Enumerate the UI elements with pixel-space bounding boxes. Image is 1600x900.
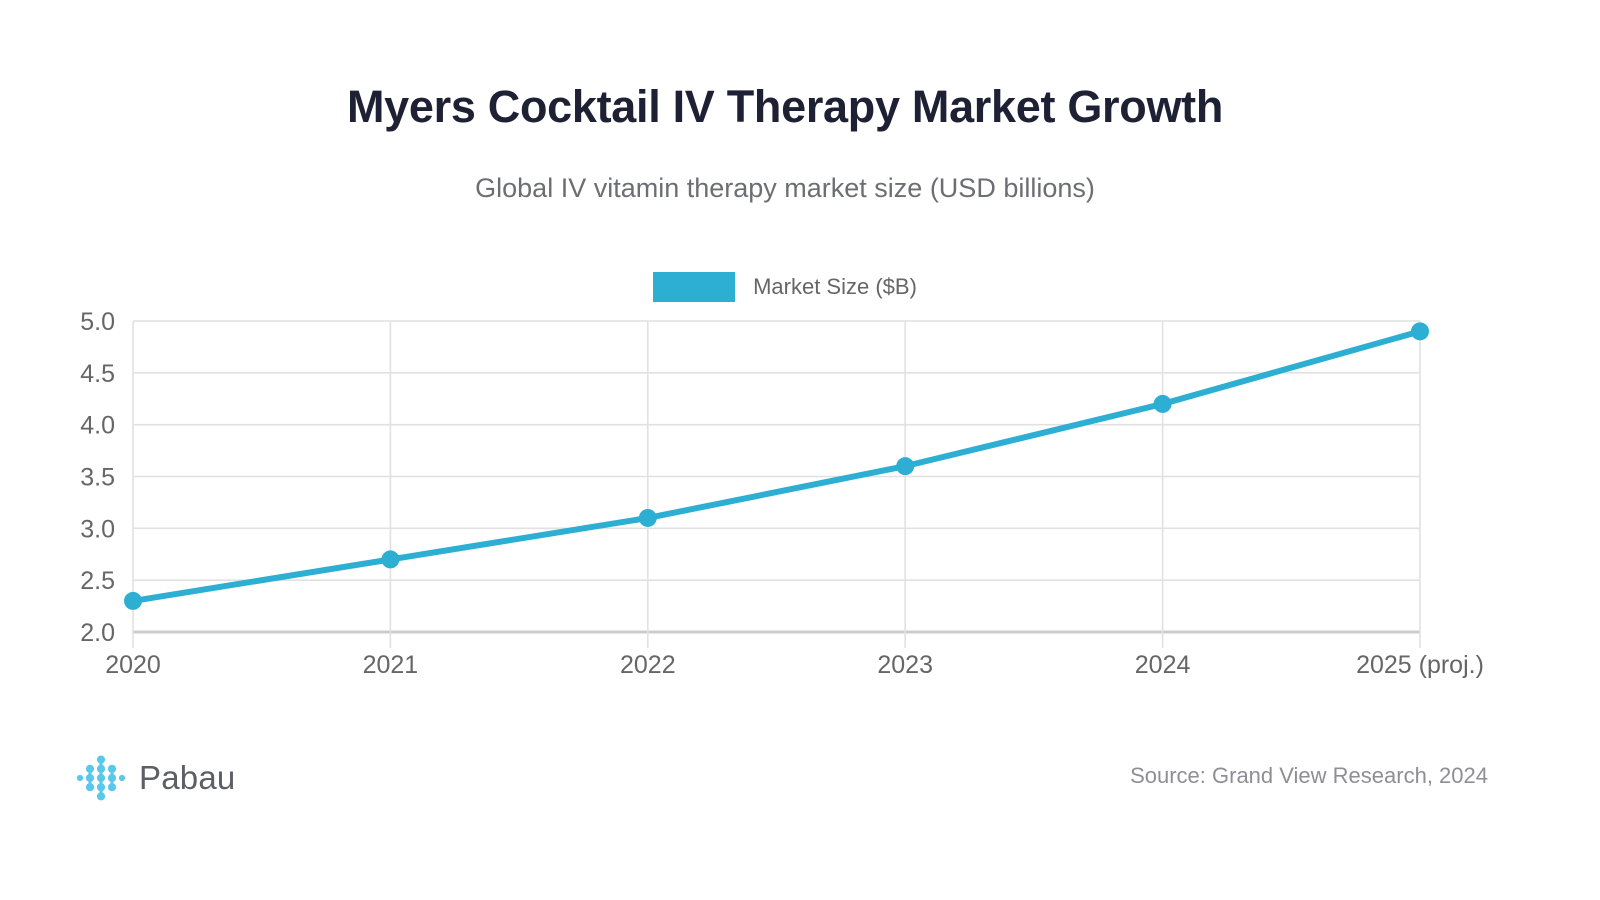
logo-dot [86, 783, 94, 791]
pabau-diamond-dots-icon [75, 752, 127, 804]
brand-logo: Pabau [75, 752, 235, 804]
gridlines [133, 321, 1420, 648]
y-axis-tick-labels: 2.02.53.03.54.04.55.0 [80, 308, 115, 647]
y-tick-label: 4.5 [80, 360, 115, 388]
logo-dot [77, 775, 83, 781]
data-point[interactable] [639, 509, 657, 527]
y-tick-label: 3.0 [80, 515, 115, 543]
data-point[interactable] [124, 592, 142, 610]
chart-card: Myers Cocktail IV Therapy Market Growth … [0, 0, 1600, 900]
series-market-size [124, 322, 1429, 610]
y-tick-label: 5.0 [80, 308, 115, 336]
series-line [133, 331, 1420, 601]
y-tick-label: 2.0 [80, 619, 115, 647]
source-attribution: Source: Grand View Research, 2024 [1130, 763, 1488, 789]
data-point[interactable] [1411, 322, 1429, 340]
x-axis-tick-labels: 202020212022202320242025 (proj.) [105, 651, 1484, 679]
data-point[interactable] [381, 550, 399, 568]
logo-dot [119, 775, 125, 781]
logo-dot [108, 783, 116, 791]
data-point[interactable] [1154, 395, 1172, 413]
x-tick-label: 2023 [877, 651, 933, 679]
brand-name: Pabau [139, 759, 235, 797]
y-tick-label: 2.5 [80, 567, 115, 595]
x-tick-label: 2024 [1135, 651, 1191, 679]
data-point[interactable] [896, 457, 914, 475]
series-data-points [124, 322, 1429, 610]
y-tick-label: 4.0 [80, 412, 115, 440]
x-tick-label: 2025 (proj.) [1356, 651, 1484, 679]
x-tick-label: 2022 [620, 651, 676, 679]
y-tick-label: 3.5 [80, 464, 115, 492]
logo-dot [97, 792, 105, 800]
x-tick-label: 2021 [363, 651, 419, 679]
x-tick-label: 2020 [105, 651, 161, 679]
